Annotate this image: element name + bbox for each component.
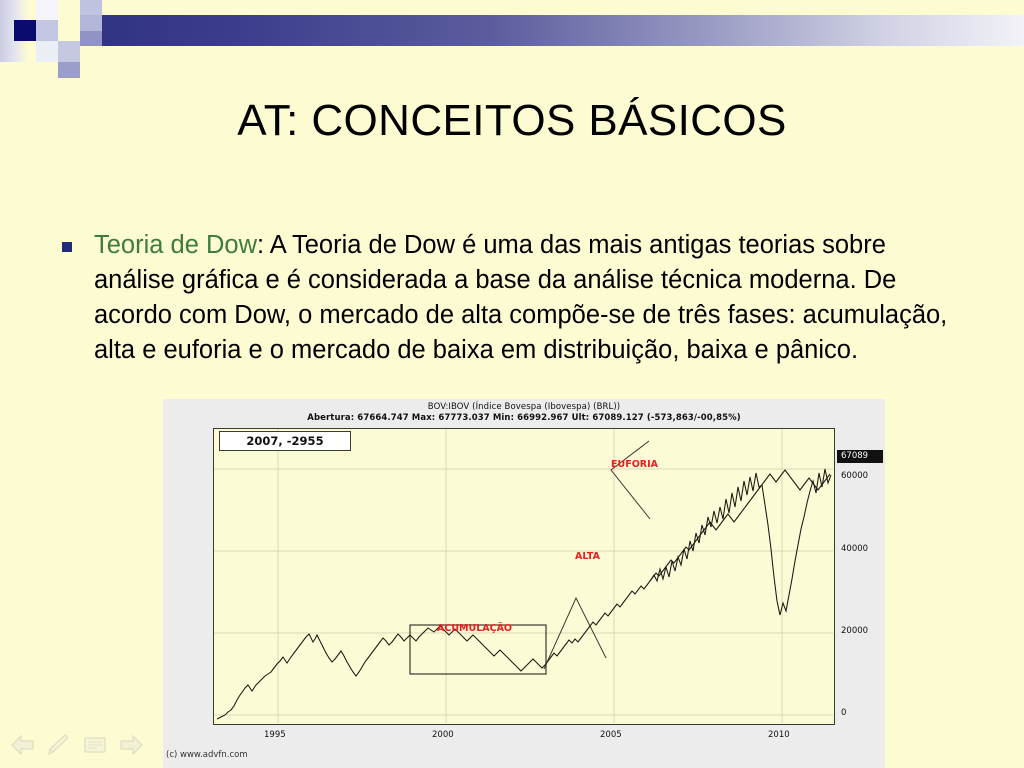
chart-gridlines-horizontal <box>214 469 833 715</box>
bullet-marker-icon <box>62 242 72 252</box>
chart-plot-svg <box>214 429 833 723</box>
chart-annotation-euforia: EUFORIA <box>611 459 658 470</box>
header-square-pale-1 <box>36 0 58 20</box>
bullet-lead-label: Teoria de Dow <box>94 231 257 259</box>
chart-y-tick-20000: 20000 <box>841 626 868 636</box>
header-square-blue-3 <box>80 0 102 15</box>
header-square-dark <box>14 20 36 41</box>
chart-x-tick-2010: 2010 <box>768 730 790 740</box>
header-square-blue-2 <box>58 62 80 78</box>
chart-y-tick-60000: 60000 <box>841 471 868 481</box>
chart-annotation-acumulacao: ACUMULAÇÃO <box>437 623 512 634</box>
slide-icon <box>80 732 110 758</box>
chart-plot-area <box>213 428 835 725</box>
chart-gridlines-vertical <box>278 429 782 723</box>
bullet-separator: : <box>257 231 270 259</box>
chart-x-tick-1995: 1995 <box>264 730 286 740</box>
chart-last-price-tag: 67089 <box>837 450 883 463</box>
slideshow-navigation-bar <box>8 732 158 762</box>
chart-copyright: (c) www.advfn.com <box>166 750 248 760</box>
chart-subtitle: Abertura: 67664.747 Max: 67773.037 Min: … <box>163 413 885 423</box>
arrow-right-icon <box>116 732 146 758</box>
pen-tool-button[interactable] <box>44 732 74 758</box>
previous-slide-button[interactable] <box>8 732 38 758</box>
next-slide-button[interactable] <box>116 732 146 758</box>
chart-y-tick-0: 0 <box>841 708 846 718</box>
chart-y-tick-40000: 40000 <box>841 544 868 554</box>
header-gradient-bar <box>60 15 1024 46</box>
header-square-mid-2 <box>58 20 80 41</box>
chart-price-line-detail <box>650 469 831 615</box>
chart-x-tick-2005: 2005 <box>600 730 622 740</box>
arrow-left-icon <box>8 732 38 758</box>
bullet-list-item: Teoria de Dow: A Teoria de Dow é uma das… <box>62 228 962 368</box>
page-title: AT: CONCEITOS BÁSICOS <box>0 96 1024 146</box>
chart-euforia-pointer <box>611 441 650 519</box>
chart-legend-box: 2007, -2955 <box>219 431 351 451</box>
chart-x-tick-2000: 2000 <box>432 730 454 740</box>
pen-icon <box>44 732 74 758</box>
slide-header-decoration <box>0 0 1024 62</box>
embedded-stock-chart[interactable]: BOV:IBOV (Índice Bovespa (Ibovespa) (BRL… <box>163 399 885 768</box>
body-content: Teoria de Dow: A Teoria de Dow é uma das… <box>62 228 962 368</box>
slide-menu-button[interactable] <box>80 732 110 758</box>
chart-annotation-alta: ALTA <box>575 551 600 562</box>
chart-y-axis: 67089 60000 40000 20000 0 <box>837 428 885 725</box>
header-square-blue-1 <box>58 41 80 62</box>
header-square-mid-1 <box>58 0 80 20</box>
header-square-mid-3 <box>36 20 58 41</box>
chart-price-line <box>217 470 830 719</box>
chart-title: BOV:IBOV (Índice Bovespa (Ibovespa) (BRL… <box>163 402 885 412</box>
header-square-blue-4 <box>80 15 102 31</box>
header-square-blue-5 <box>80 31 102 46</box>
bullet-paragraph: Teoria de Dow: A Teoria de Dow é uma das… <box>94 228 962 368</box>
header-square-pale-2 <box>36 41 58 62</box>
